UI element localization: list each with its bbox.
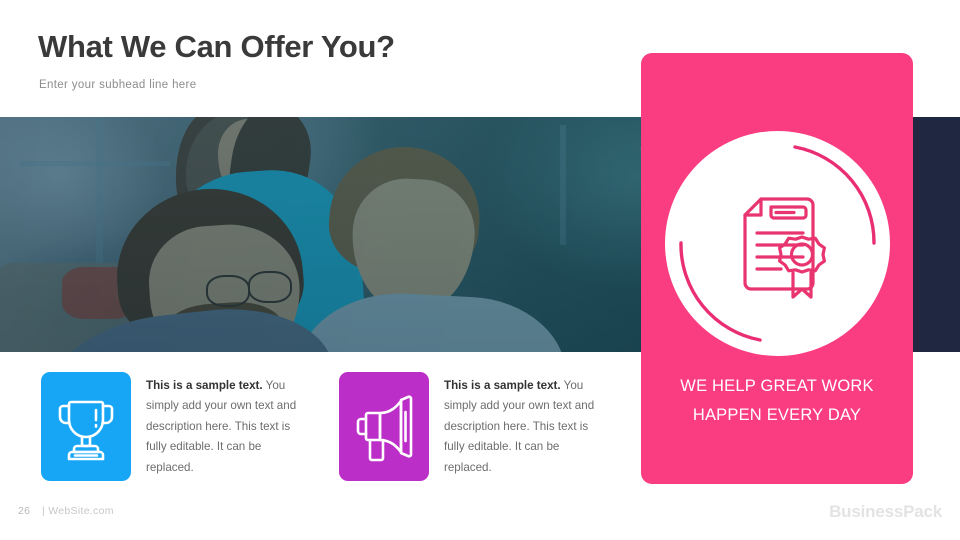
megaphone-tile[interactable] [339,372,429,481]
page-subhead: Enter your subhead line here [39,79,196,91]
feature-headline: WE HELP GREAT WORK HAPPEN EVERY DAY [651,372,903,430]
certificate-icon [715,181,841,307]
feature-headline-line-1: WE HELP GREAT WORK [651,372,903,401]
feature-card-heading: This is a sample text. [146,379,263,392]
brand-logo: BusinessPack [829,502,942,522]
footer-website: | WebSite.com [42,505,114,517]
feature-panel[interactable]: WE HELP GREAT WORK HAPPEN EVERY DAY [641,53,913,484]
trophy-tile[interactable] [41,372,131,481]
feature-card-text: This is a sample text. You simply add yo… [146,376,309,478]
feature-card-text: This is a sample text. You simply add yo… [444,376,607,478]
footer-page-number: 26 [18,505,30,517]
navy-accent-block [913,117,960,352]
megaphone-icon [339,372,429,481]
feature-headline-line-2: HAPPEN EVERY DAY [651,401,903,430]
feature-card-body: You simply add your own text and descrip… [444,379,594,474]
trophy-icon [41,372,131,481]
feature-card-heading: This is a sample text. [444,379,561,392]
feature-card-body: You simply add your own text and descrip… [146,379,296,474]
page-title: What We Can Offer You? [38,29,395,65]
